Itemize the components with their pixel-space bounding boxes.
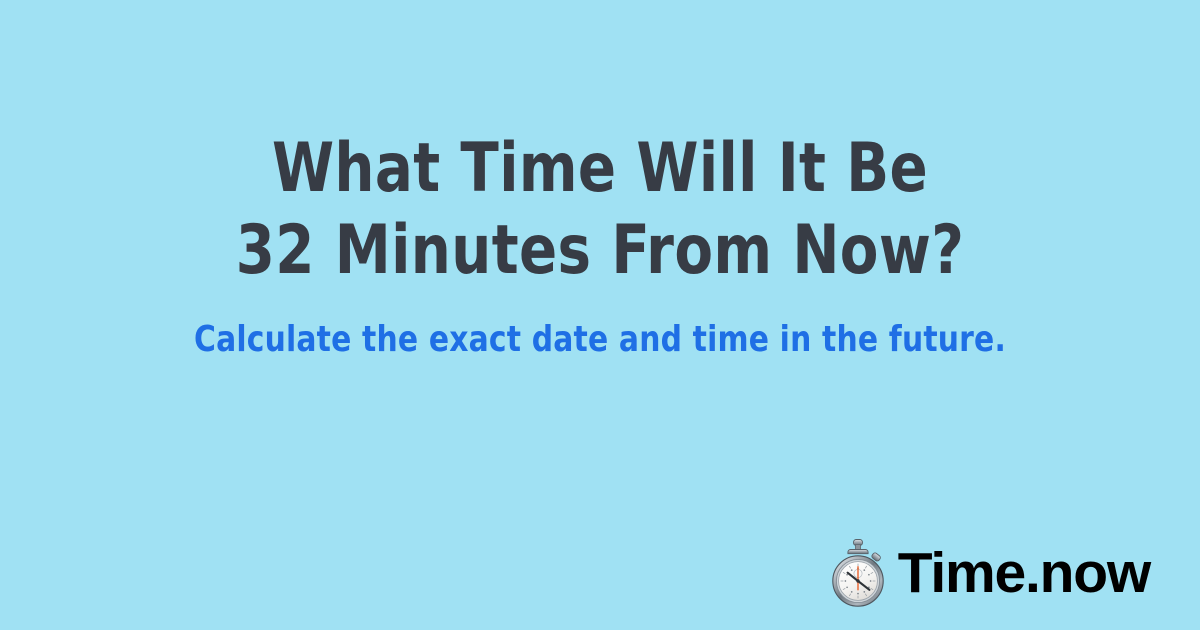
- headline-block: What Time Will It Be 32 Minutes From Now…: [0, 128, 1200, 361]
- og-preview-card: What Time Will It Be 32 Minutes From Now…: [0, 0, 1200, 630]
- brand-name: Time.now: [898, 545, 1150, 602]
- page-subtitle: Calculate the exact date and time in the…: [48, 319, 1152, 361]
- brand-logo[interactable]: Time.now: [830, 538, 1150, 608]
- page-title: What Time Will It Be 32 Minutes From Now…: [48, 128, 1152, 292]
- stopwatch-icon: [830, 538, 886, 608]
